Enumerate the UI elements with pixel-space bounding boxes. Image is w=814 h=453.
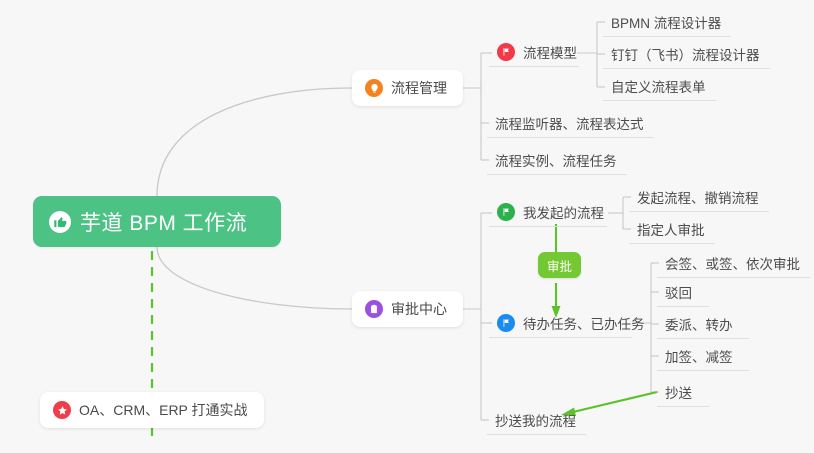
flag-icon xyxy=(497,203,515,221)
approval-badge[interactable]: 审批 xyxy=(538,252,581,278)
node-label: 指定人审批 xyxy=(637,219,705,239)
approval-badge-label: 审批 xyxy=(547,256,572,275)
flag-icon xyxy=(497,43,515,61)
node-label: 流程监听器、流程表达式 xyxy=(495,113,644,133)
node-label: 驳回 xyxy=(665,282,692,302)
node-label: 我发起的流程 xyxy=(523,202,604,222)
node-label: 流程管理 xyxy=(391,78,447,98)
clipboard-icon xyxy=(365,300,383,318)
node-label: 审批中心 xyxy=(391,299,447,319)
node-my-initiated-process[interactable]: 我发起的流程 xyxy=(489,198,607,227)
node-assignee-approval[interactable]: 指定人审批 xyxy=(629,215,715,244)
node-label: 发起流程、撤销流程 xyxy=(637,187,759,207)
node-cc[interactable]: 抄送 xyxy=(657,378,709,407)
node-todo-done-tasks[interactable]: 待办任务、已办任务 xyxy=(489,309,632,338)
thumbs-up-icon xyxy=(49,211,71,233)
node-process-management[interactable]: 流程管理 xyxy=(352,70,463,106)
node-label: 抄送我的流程 xyxy=(495,410,576,430)
star-icon xyxy=(53,401,71,419)
node-bpmn-designer[interactable]: BPMN 流程设计器 xyxy=(603,8,731,37)
node-process-listener-expression[interactable]: 流程监听器、流程表达式 xyxy=(487,109,654,138)
node-label: 委派、转办 xyxy=(665,314,733,334)
node-approval-center[interactable]: 审批中心 xyxy=(352,291,463,327)
node-custom-process-form[interactable]: 自定义流程表单 xyxy=(603,72,716,101)
node-integration-practice[interactable]: OA、CRM、ERP 打通实战 xyxy=(40,392,264,428)
node-label: 加签、减签 xyxy=(665,346,733,366)
flag-icon xyxy=(497,314,515,332)
node-label: 钉钉（飞书）流程设计器 xyxy=(611,44,760,64)
node-countersign-or-sequential[interactable]: 会签、或签、依次审批 xyxy=(657,249,810,278)
node-label: 自定义流程表单 xyxy=(611,76,706,96)
node-label: BPMN 流程设计器 xyxy=(611,12,721,32)
mindmap-canvas: 芋道 BPM 工作流 流程管理 流程模型 BPMN 流程设计器 钉钉（飞书）流程… xyxy=(0,0,814,453)
node-label: 会签、或签、依次审批 xyxy=(665,253,800,273)
node-dingtalk-feishu-designer[interactable]: 钉钉（飞书）流程设计器 xyxy=(603,40,770,69)
node-label: 待办任务、已办任务 xyxy=(523,313,645,333)
node-cc-to-me-process[interactable]: 抄送我的流程 xyxy=(487,406,586,435)
node-process-instance-task[interactable]: 流程实例、流程任务 xyxy=(487,146,627,175)
node-process-model[interactable]: 流程模型 xyxy=(489,38,579,67)
node-reject[interactable]: 驳回 xyxy=(657,278,709,307)
node-label: 流程实例、流程任务 xyxy=(495,150,617,170)
node-label: 流程模型 xyxy=(523,42,577,62)
node-label: 抄送 xyxy=(665,382,692,402)
node-delegate-transfer[interactable]: 委派、转办 xyxy=(657,310,749,339)
lightbulb-icon xyxy=(365,79,383,97)
node-label: OA、CRM、ERP 打通实战 xyxy=(79,400,248,420)
node-start-cancel-process[interactable]: 发起流程、撤销流程 xyxy=(629,183,769,212)
root-label: 芋道 BPM 工作流 xyxy=(80,207,247,237)
root-node[interactable]: 芋道 BPM 工作流 xyxy=(33,196,281,247)
node-add-remove-sign[interactable]: 加签、减签 xyxy=(657,342,749,371)
